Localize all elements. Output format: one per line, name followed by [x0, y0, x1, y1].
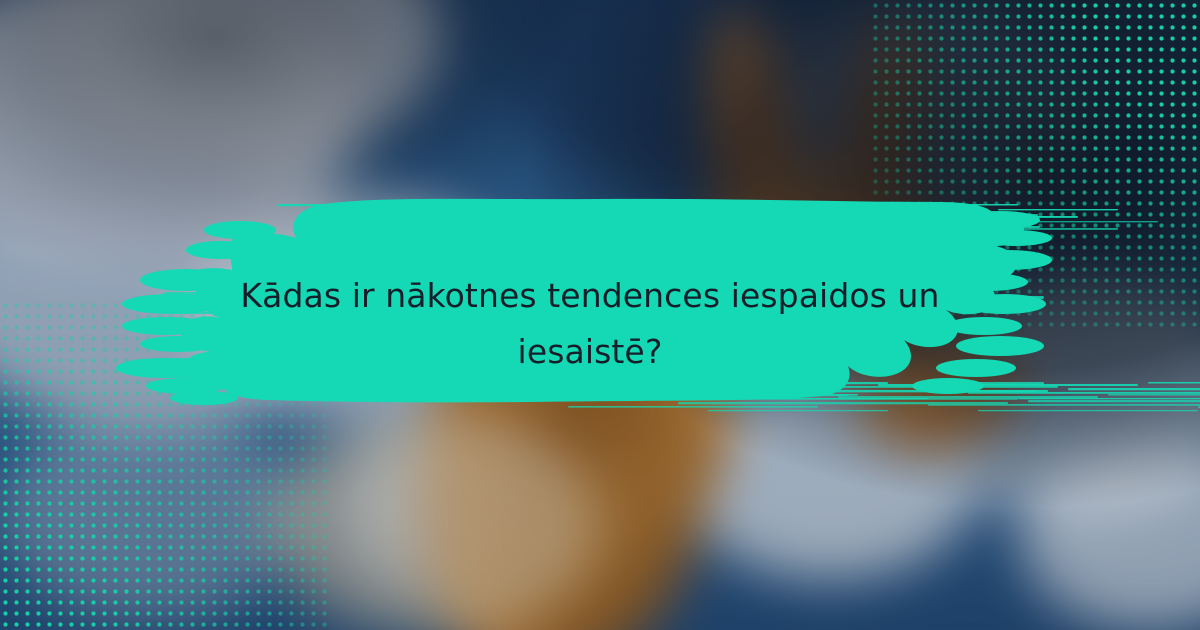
page-title: Kādas ir nākotnes tendences iespaidos un…	[150, 268, 1030, 380]
social-card: Kādas ir nākotnes tendences iespaidos un…	[0, 0, 1200, 630]
